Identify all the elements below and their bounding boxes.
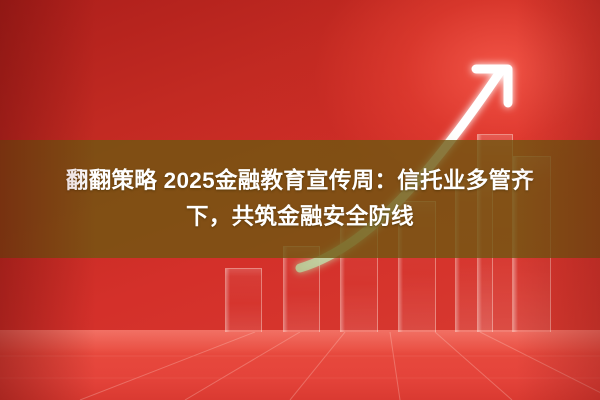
headline-line-2: 下，共筑金融安全防线: [20, 199, 580, 235]
headline-line-1: 翻翻策略 2025金融教育宣传周：信托业多管齐: [20, 163, 580, 199]
thumbnail-canvas: 翻翻策略 2025金融教育宣传周：信托业多管齐 下，共筑金融安全防线: [0, 0, 600, 400]
headline-band: 翻翻策略 2025金融教育宣传周：信托业多管齐 下，共筑金融安全防线: [0, 140, 600, 258]
page-title: 翻翻策略 2025金融教育宣传周：信托业多管齐 下，共筑金融安全防线: [20, 163, 580, 235]
